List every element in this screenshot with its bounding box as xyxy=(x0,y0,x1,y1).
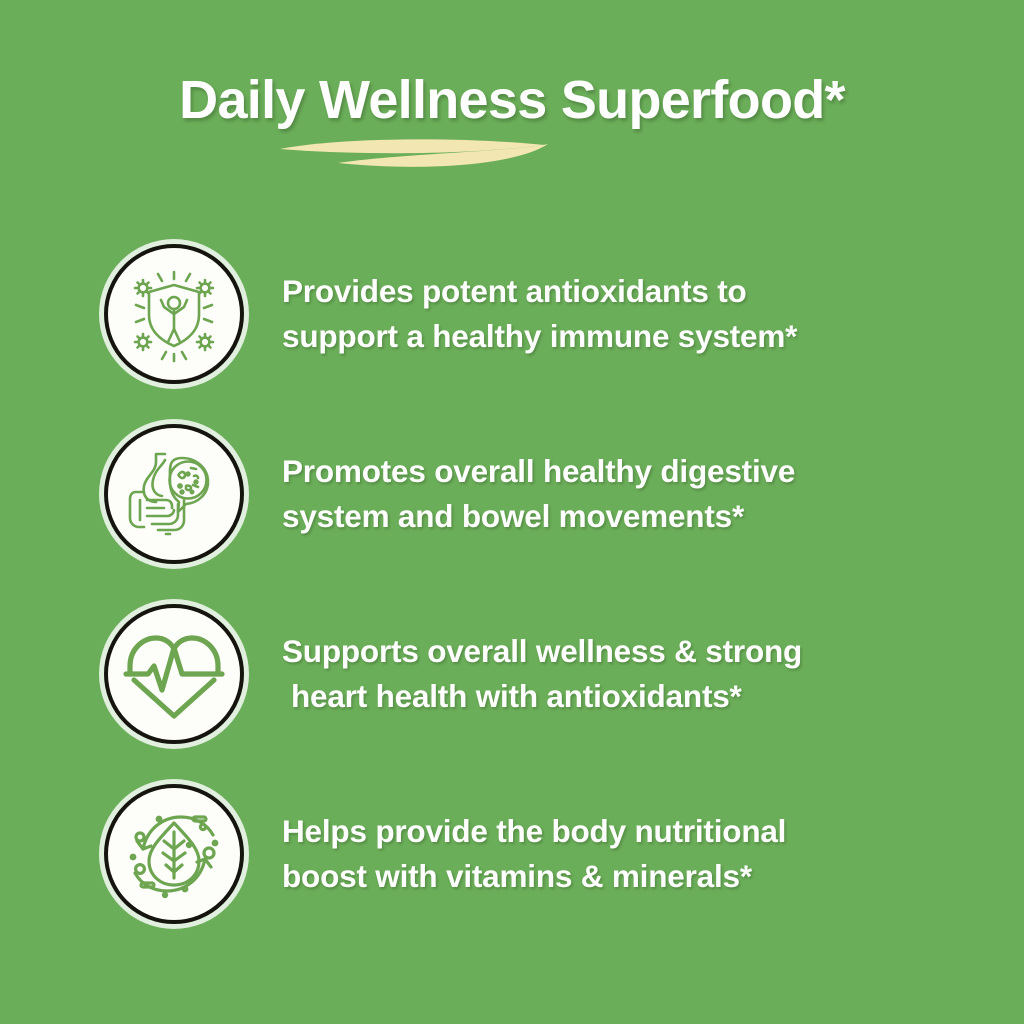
benefit-line-1: Promotes overall healthy digestive xyxy=(282,453,795,489)
digestive-system-microbiome-icon xyxy=(122,442,226,546)
benefit-text: Supports overall wellness & strong heart… xyxy=(282,629,802,718)
list-item: Helps provide the body nutritional boost… xyxy=(0,764,1024,944)
heart-heartbeat-icon xyxy=(120,624,228,724)
benefits-list: Provides potent antioxidants to support … xyxy=(0,224,1024,944)
page-title: Daily Wellness Superfood* xyxy=(0,72,1024,129)
icon-badge-nutrition xyxy=(104,784,244,924)
immune-shield-person-icon xyxy=(120,260,228,368)
benefit-text: Promotes overall healthy digestive syste… xyxy=(282,449,795,538)
benefit-line-2: support a healthy immune system* xyxy=(282,314,797,359)
benefit-line-2: system and bowel movements* xyxy=(282,494,795,539)
benefit-line-1: Provides potent antioxidants to xyxy=(282,273,747,309)
list-item: Promotes overall healthy digestive syste… xyxy=(0,404,1024,584)
icon-badge-digestive xyxy=(104,424,244,564)
icon-badge-immune xyxy=(104,244,244,384)
benefit-text: Provides potent antioxidants to support … xyxy=(282,269,797,358)
icon-badge-heart xyxy=(104,604,244,744)
brush-swoosh-underline-icon xyxy=(276,132,556,180)
benefit-line-1: Helps provide the body nutritional xyxy=(282,813,786,849)
benefit-line-1: Supports overall wellness & strong xyxy=(282,633,802,669)
list-item: Supports overall wellness & strong heart… xyxy=(0,584,1024,764)
benefit-line-2: boost with vitamins & minerals* xyxy=(282,854,786,899)
benefit-text: Helps provide the body nutritional boost… xyxy=(282,809,786,898)
header: Daily Wellness Superfood* xyxy=(0,72,1024,129)
benefit-line-2: heart health with antioxidants* xyxy=(282,674,802,719)
leaf-droplet-nutrient-cycle-icon xyxy=(119,799,229,909)
list-item: Provides potent antioxidants to support … xyxy=(0,224,1024,404)
